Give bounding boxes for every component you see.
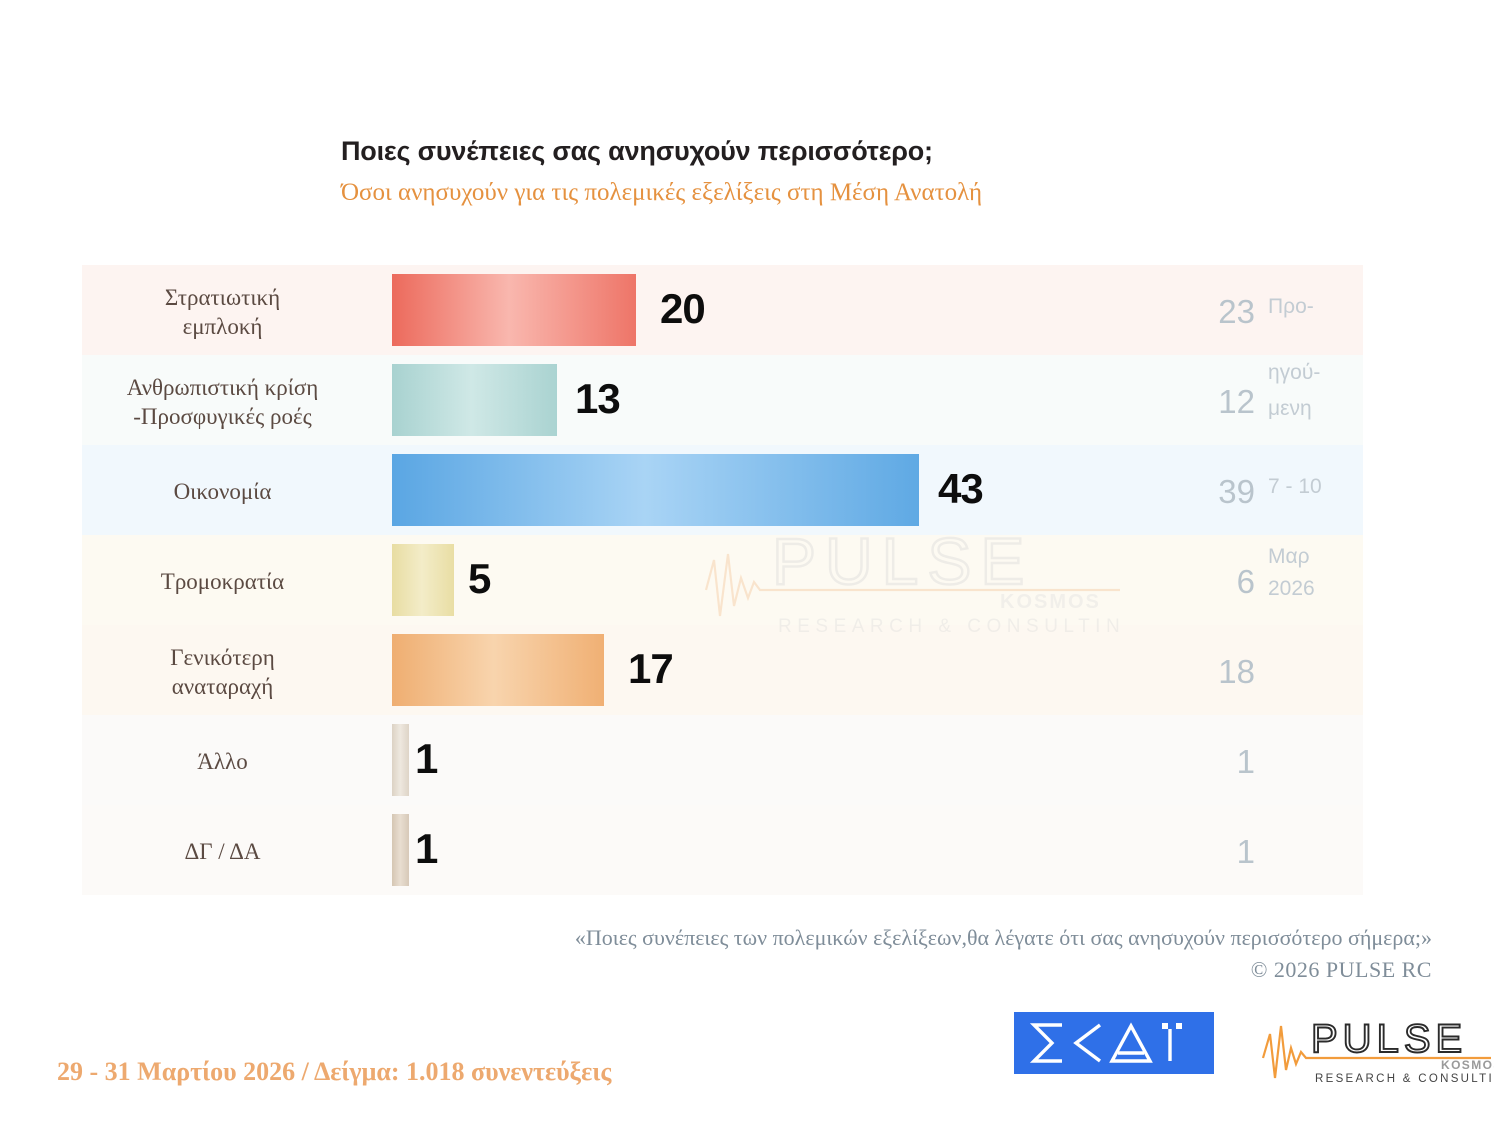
previous-period-year-label: 2026	[1268, 577, 1315, 601]
table-row: Ανθρωπιστική κρίση -Προσφυγικές ροές 13 …	[0, 355, 1363, 445]
page-subtitle: Όσοι ανησυχούν για τις πολεμικές εξελίξε…	[341, 179, 1341, 207]
date-and-sample: 29 - 31 Μαρτίου 2026 / Δείγμα: 1.018 συν…	[57, 1057, 611, 1087]
bar-data-label: 20	[660, 285, 705, 333]
bar-value-13	[392, 364, 557, 436]
title-block: Ποιες συνέπειες σας ανησυχούν περισσότερ…	[341, 136, 1341, 207]
previous-header-line2: ηγού- μενη	[1268, 361, 1320, 421]
svg-text:RESEARCH & CONSULTING: RESEARCH & CONSULTING	[1315, 1073, 1494, 1085]
previous-period-range: 7 - 10	[1268, 475, 1322, 499]
pulse-logo: PULSE KOSMOS RESEARCH & CONSULTING	[1259, 1008, 1494, 1088]
table-row: Στρατιωτική εμπλοκή 20 23 Προ-	[0, 265, 1363, 355]
category-label: Γενικότερη αναταραχή	[60, 643, 385, 702]
previous-value: 6	[1165, 563, 1255, 601]
svg-text:KOSMOS: KOSMOS	[1441, 1058, 1494, 1072]
bar-data-label: 1	[415, 735, 437, 783]
bar-data-label: 43	[938, 465, 983, 513]
category-label: Άλλο	[60, 747, 385, 776]
category-label: Οικονομία	[60, 477, 385, 506]
copyright: © 2026 PULSE RC	[0, 957, 1432, 983]
previous-value: 18	[1165, 653, 1255, 691]
category-label-line1: Στρατιωτική	[60, 283, 385, 312]
bar-value-1-other	[392, 724, 409, 796]
previous-period-month-label: Μαρ	[1268, 545, 1315, 569]
bar-value-1-dk	[392, 814, 409, 886]
category-label: Στρατιωτική εμπλοκή	[60, 283, 385, 342]
previous-header-line2a: ηγού-	[1268, 361, 1320, 385]
category-label-line1: Ανθρωπιστική κρίση	[60, 373, 385, 402]
previous-value: 1	[1165, 833, 1255, 871]
previous-header-line1: Προ-	[1268, 295, 1314, 319]
category-label-line1: Τρομοκρατία	[60, 567, 385, 596]
category-label-line1: Άλλο	[60, 747, 385, 776]
category-label-line2: -Προσφυγικές ροές	[60, 402, 385, 431]
bar-value-43	[392, 454, 919, 526]
previous-period-month: Μαρ 2026	[1268, 545, 1315, 601]
category-label-line1: Οικονομία	[60, 477, 385, 506]
page-title: Ποιες συνέπειες σας ανησυχούν περισσότερ…	[341, 136, 1341, 167]
previous-value: 23	[1165, 293, 1255, 331]
table-row: ΔΓ / ΔΑ 1 1	[0, 805, 1363, 895]
category-label: Ανθρωπιστική κρίση -Προσφυγικές ροές	[60, 373, 385, 432]
previous-value: 1	[1165, 743, 1255, 781]
bar-value-5	[392, 544, 454, 616]
category-label: Τρομοκρατία	[60, 567, 385, 596]
svg-text:PULSE: PULSE	[1311, 1017, 1467, 1061]
category-label-line1: Γενικότερη	[60, 643, 385, 672]
table-row: Άλλο 1 1	[0, 715, 1363, 805]
previous-header-line2b: μενη	[1268, 397, 1320, 421]
bar-data-label: 13	[575, 375, 620, 423]
previous-value: 12	[1165, 383, 1255, 421]
category-label-line2: εμπλοκή	[60, 312, 385, 341]
bar-data-label: 1	[415, 825, 437, 873]
bar-value-17	[392, 634, 604, 706]
category-label: ΔΓ / ΔΑ	[60, 837, 385, 866]
survey-question: «Ποιες συνέπειες των πολεμικών εξελίξεων…	[0, 925, 1432, 951]
table-row: Γενικότερη αναταραχή 17 18	[0, 625, 1363, 715]
bar-data-label: 5	[468, 555, 490, 603]
bar-chart: PULSE KOSMOS RESEARCH & CONSULTING Στρατ…	[0, 265, 1500, 865]
category-label-line2: αναταραχή	[60, 672, 385, 701]
skai-logo	[1014, 1012, 1214, 1074]
previous-value: 39	[1165, 473, 1255, 511]
bar-data-label: 17	[628, 645, 673, 693]
table-row: Οικονομία 43 39 7 - 10	[0, 445, 1363, 535]
category-label-line1: ΔΓ / ΔΑ	[60, 837, 385, 866]
footnote: «Ποιες συνέπειες των πολεμικών εξελίξεων…	[0, 925, 1432, 983]
bar-value-20	[392, 274, 636, 346]
table-row: Τρομοκρατία 5 6 Μαρ 2026	[0, 535, 1363, 625]
